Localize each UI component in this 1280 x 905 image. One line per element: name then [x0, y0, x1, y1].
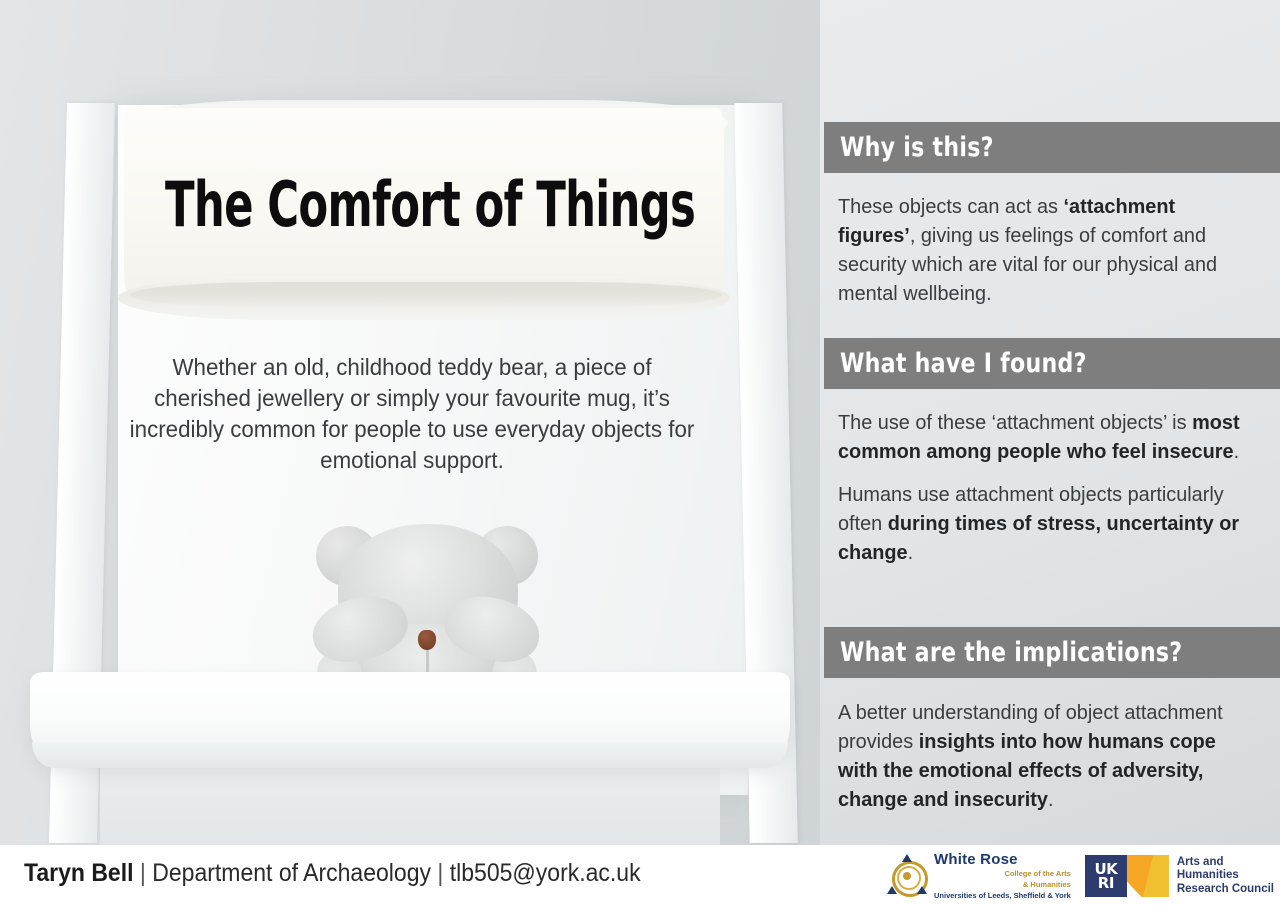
ukri-swoosh-icon: [1125, 855, 1169, 897]
chair-under-seat: [100, 768, 720, 845]
body-text: These objects can act as: [838, 195, 1063, 218]
white-rose-college-line2: & Humanities: [934, 880, 1071, 889]
body-text: The use of these ‘attachment objects’ is: [838, 411, 1192, 434]
ahrc-line1: Arts and: [1177, 856, 1274, 870]
white-rose-college-line1: College of the Arts: [934, 869, 1071, 878]
emphasis-text: during times of stress, uncertainty or c…: [838, 512, 1239, 564]
white-rose-universities: Universities of Leeds, Sheffield & York: [934, 892, 1071, 900]
white-rose-wordmark: White Rose College of the Arts & Humanit…: [934, 852, 1071, 900]
section-header-why-is-this: Why is this?: [824, 122, 1280, 173]
rose-core: [903, 872, 911, 880]
author-name: Taryn Bell: [24, 859, 134, 887]
white-rose-emblem-icon: [886, 855, 928, 897]
triangle-bottom-right-icon: [917, 886, 927, 894]
credit-separator-2: |: [431, 859, 450, 887]
body-text: .: [1048, 788, 1054, 811]
section-heading-label: Why is this?: [840, 132, 994, 163]
ukri-emblem-icon: UK RI: [1085, 855, 1169, 897]
section-paragraph: A better understanding of object attachm…: [838, 698, 1257, 814]
section-heading-label: What are the implications?: [840, 637, 1182, 668]
ukri-mark-line2: RI: [1098, 876, 1114, 890]
info-column: Why is this? These objects can act as ‘a…: [820, 0, 1280, 845]
credit-separator-1: |: [134, 859, 153, 887]
ahrc-line3: Research Council: [1177, 883, 1274, 897]
white-rose-name: White Rose: [934, 852, 1071, 867]
footer-bar: Taryn Bell | Department of Archaeology |…: [0, 845, 1280, 905]
author-email: tlb505@york.ac.uk: [450, 859, 641, 887]
ahrc-line2: Humanities: [1177, 869, 1274, 883]
section-body-what-have-i-found: The use of these ‘attachment objects’ is…: [838, 408, 1257, 581]
section-header-what-have-i-found: What have I found?: [824, 338, 1280, 389]
section-paragraph: Humans use attachment objects particular…: [838, 480, 1257, 567]
bear-nose: [418, 630, 436, 650]
white-rose-logo: White Rose College of the Arts & Humanit…: [886, 852, 1071, 900]
page-title: The Comfort of Things: [165, 168, 655, 241]
chair-rail-seam: [130, 282, 722, 308]
section-paragraph: The use of these ‘attachment objects’ is…: [838, 408, 1257, 466]
intro-paragraph: Whether an old, childhood teddy bear, a …: [127, 352, 697, 476]
body-text: .: [1234, 440, 1240, 463]
section-body-what-are-the-implications: A better understanding of object attachm…: [838, 698, 1257, 828]
section-header-what-are-the-implications: What are the implications?: [824, 627, 1280, 678]
body-text: .: [908, 541, 914, 564]
section-heading-label: What have I found?: [840, 348, 1087, 379]
funder-logos: White Rose College of the Arts & Humanit…: [886, 851, 1274, 901]
triangle-top-icon: [902, 854, 912, 862]
section-paragraph: These objects can act as ‘attachment fig…: [838, 192, 1257, 308]
triangle-bottom-left-icon: [887, 886, 897, 894]
department-name: Department of Archaeology: [152, 859, 431, 887]
ahrc-wordmark: Arts and Humanities Research Council: [1177, 856, 1274, 897]
chair-seat-front-edge: [32, 742, 788, 768]
author-credit: Taryn Bell | Department of Archaeology |…: [24, 859, 641, 888]
section-body-why-is-this: These objects can act as ‘attachment fig…: [838, 192, 1257, 322]
ukri-ahrc-logo: UK RI Arts and Humanities Research Counc…: [1085, 855, 1274, 897]
background-photo: The Comfort of Things Whether an old, ch…: [0, 0, 820, 845]
ukri-square-icon: UK RI: [1085, 855, 1127, 897]
poster-root: The Comfort of Things Whether an old, ch…: [0, 0, 1280, 905]
